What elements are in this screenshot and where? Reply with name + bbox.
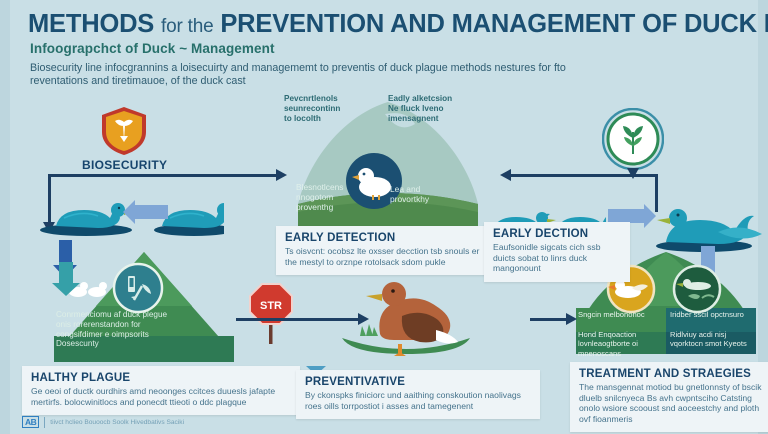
connector-arrowhead-to-center	[276, 169, 287, 181]
stop-sign-text: STR	[260, 300, 282, 312]
tile-right: Iridber sscil opctnsuro Ridlviuy acdi ni…	[670, 310, 756, 349]
tile-left: Sngcin melbononoc Hond Enqoaction lovnle…	[578, 310, 664, 358]
shield-bird-icon	[96, 104, 152, 158]
page-lede: Biosecurity line infocgrannins a loisecu…	[30, 62, 590, 88]
habitat-circle-icon	[672, 264, 722, 314]
callout-early-detection[interactable]: EARLY DETECTION Ts oisvcnt: ocobsz lte o…	[276, 226, 494, 275]
connector-to-right-mountain	[530, 318, 570, 321]
block-arrow-right	[608, 209, 644, 223]
tile-right-bottom: Ridlviuy acdi nisj vqorktocn smot Kyeots	[670, 330, 756, 348]
footer: AB tiivct hclieo Bouoocb Soolk Hivedbati…	[22, 416, 184, 428]
callout-early-dection[interactable]: EARLY DECTION Eaufsonidle sigcats cich s…	[484, 222, 630, 282]
callout-preventative-body: By ckonspks finiciorc und aaithing consk…	[305, 390, 531, 411]
footer-text: tiivct hclieo Bouoocb Soolk Hivedbativs …	[50, 419, 184, 426]
tile-left-bottom: Hond Enqoaction lovnleaogtborte oi mneno…	[578, 330, 664, 358]
footer-logo: AB	[22, 416, 39, 428]
block-arrow-left	[134, 205, 168, 219]
callout-early-detection-body: Ts oisvcnt: ocobsz lte oxsser decction t…	[285, 246, 485, 267]
callout-preventative[interactable]: PREVENTIVATIVE By ckonspks finiciorc und…	[296, 370, 540, 419]
callout-healthy-plague-heading: HALTHY PLAGUE	[31, 372, 291, 384]
mallard-duck-illustration	[336, 272, 476, 358]
section-label-biosecurity: BIOSECURITY	[82, 158, 167, 172]
infographic-canvas: METHODS for the PREVENTION AND MANAGEMEN…	[0, 0, 768, 434]
page-title: METHODS for the PREVENTION AND MANAGEMEN…	[28, 10, 758, 39]
callout-treatment-body: The mansgennat motiod bu gnetlonnsty of …	[579, 382, 763, 424]
annotation-hill-top-right: Eadly alketcsion Ne fluck lveno imensagn…	[388, 94, 458, 124]
stop-sign-icon: STR	[248, 282, 294, 344]
callout-healthy-plague[interactable]: HALTHY PLAGUE Ge oeoi of ductk ourdhirs …	[22, 366, 300, 415]
callout-early-detection-heading: EARLY DETECTION	[285, 232, 485, 244]
left-mountain-label: Conrmenciomu af duck plegue onis roreren…	[56, 310, 178, 349]
title-part-forthe: for the	[161, 16, 213, 37]
title-part-methods: METHODS	[28, 10, 154, 38]
annotation-hill-top-left: Pevcnrtlenols seunrecontinn to locolth	[284, 94, 346, 124]
callout-preventative-heading: PREVENTIVATIVE	[305, 376, 531, 388]
callout-treatment-heading: TREATMENT AND STRAEGIES	[579, 368, 763, 380]
hill-label-left: Blesnotlcens nnogotom proventhg	[296, 182, 356, 212]
title-part-prevention: PREVENTION AND	[220, 10, 444, 38]
connector-arrowhead-to-center-right	[500, 169, 511, 181]
block-arrow-down-left-teal	[59, 262, 73, 284]
page-subtitle: Infoograpchct of Duck ~ Management	[30, 41, 275, 56]
connector-top-left-horizontal	[48, 174, 278, 177]
callout-treatment-and-strategies[interactable]: TREATMENT AND STRAEGIES The mansgennat m…	[570, 362, 768, 432]
connector-arrowhead-right-mountain	[566, 313, 577, 325]
callout-healthy-plague-body: Ge oeoi of ductk ourdhirs amd neoonges c…	[31, 386, 291, 407]
header: METHODS for the PREVENTION AND MANAGEMEN…	[0, 0, 768, 92]
callout-early-dection-heading: EARLY DECTION	[493, 228, 621, 240]
title-part-management: MANAGEMENT OF DUCK PLAGUE	[452, 10, 768, 38]
hill-label-right: Lea and provortkhy	[390, 184, 450, 204]
syringe-circle-icon	[112, 262, 164, 314]
callout-early-dection-body: Eaufsonidle sigcats cich ssb duicts soba…	[493, 242, 621, 274]
herb-circle-icon	[602, 108, 664, 170]
herb-arrowhead-down	[627, 168, 639, 179]
footer-divider	[44, 417, 45, 428]
